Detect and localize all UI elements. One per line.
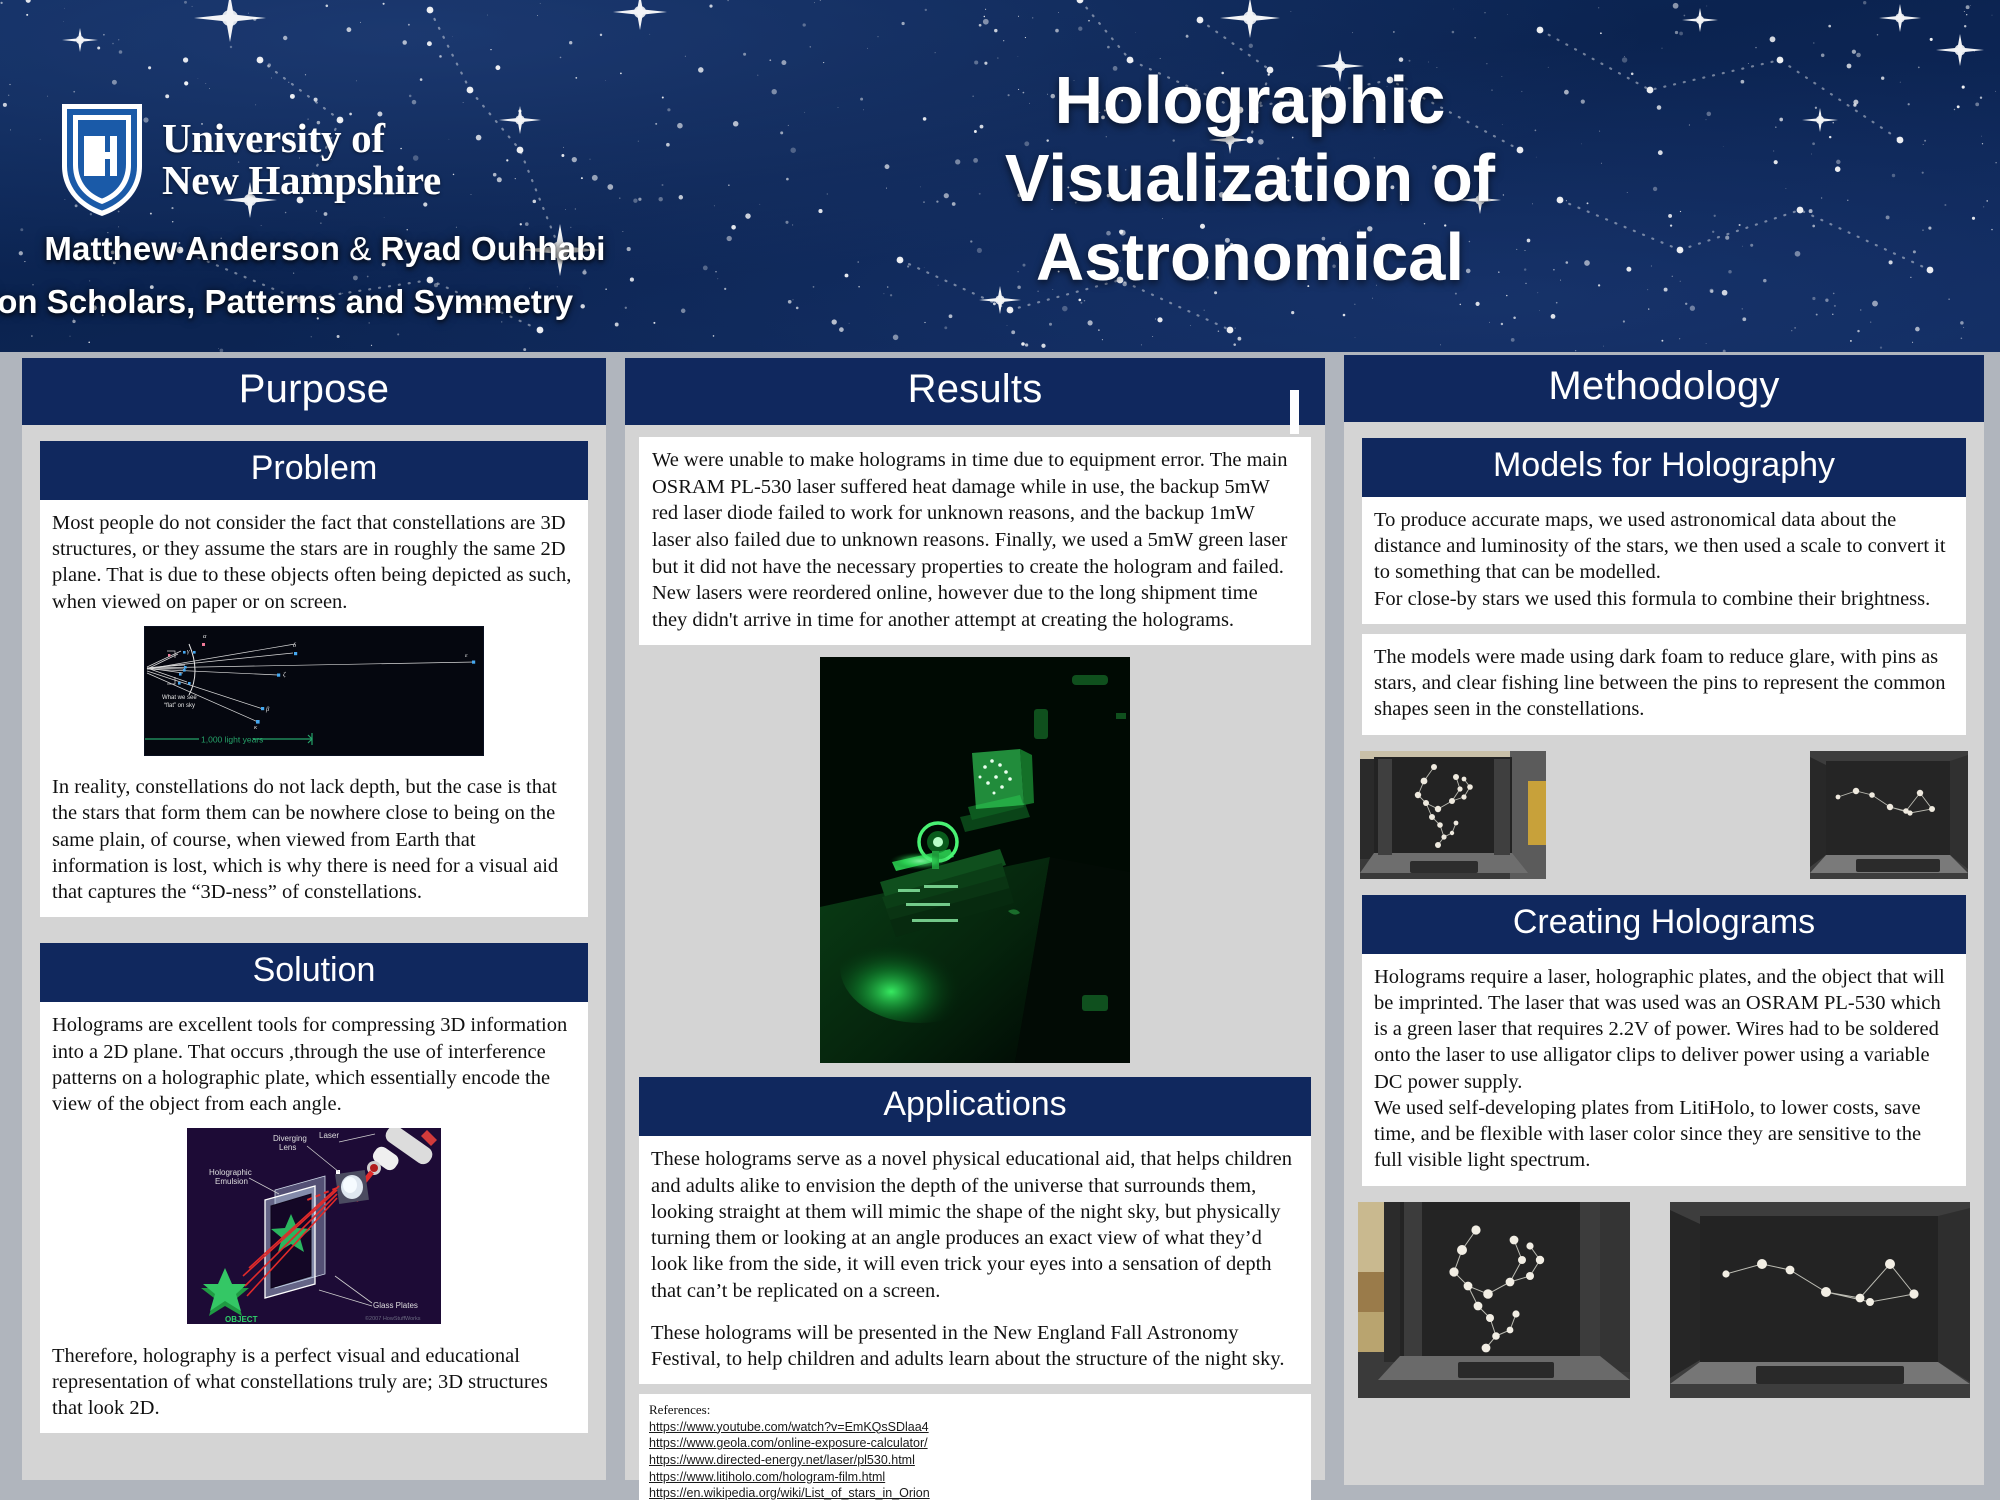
poster-title: Holographic Visualization of Astronomica… [880,62,1620,297]
svg-text:What we see: What we see [162,695,197,701]
results-text: We were unable to make holograms in time… [639,437,1311,645]
author-names: Matthew Anderson & Ryad Ouhhabi [0,230,720,268]
unh-shield-icon [58,100,146,220]
panel-heading-applications: Applications [639,1077,1311,1136]
problem-paragraph-2: In reality, constellations do not lack d… [52,774,576,905]
solution-paragraph-2: Therefore, holography is a perfect visua… [52,1343,576,1422]
svg-text:β: β [265,706,270,713]
panel-heading-models: Models for Holography [1362,438,1966,497]
svg-text:ζ: ζ [283,671,286,678]
figure-holography-wrapper: Laser Diverging Lens Holographic Emulsio… [52,1128,576,1331]
reference-link[interactable]: https://www.geola.com/online-exposure-ca… [649,1435,1301,1452]
svg-text:α: α [203,633,207,640]
svg-text:γ: γ [187,648,190,655]
applications-paragraph-2: These holograms will be presented in the… [651,1320,1299,1372]
panel-body-models-2: The models were made using dark foam to … [1362,634,1966,735]
column-heading-results: Results [625,358,1325,425]
panel-solution: Solution Holograms are excellent tools f… [40,943,588,1433]
panel-body-solution: Holograms are excellent tools for compre… [40,1002,588,1433]
decorative-tick [1290,390,1299,434]
reference-link[interactable]: https://www.litiholo.com/hologram-film.h… [649,1469,1301,1486]
svg-text:Holographic: Holographic [209,1168,252,1177]
column-heading-methodology: Methodology [1344,355,1984,422]
author-1: Matthew Anderson [44,230,340,267]
svg-text:ε: ε [465,652,468,659]
svg-text:“flat” on sky: “flat” on sky [164,703,195,709]
scalebar-label: 1,000 light years [201,734,263,744]
hologram-model-photo-orion [1358,1202,1630,1398]
svg-text:κ: κ [254,724,258,731]
column-methodology: Methodology Models for Holography To pro… [1344,355,1984,1485]
hologram-model-photo-dipper [1670,1202,1970,1398]
holography-setup-diagram: Laser Diverging Lens Holographic Emulsio… [187,1128,441,1324]
hologram-photo-row [1358,1202,1970,1398]
svg-text:OBJECT: OBJECT [225,1315,258,1324]
reference-link[interactable]: https://www.youtube.com/watch?v=EmKQsSDl… [649,1419,1301,1436]
poster-header-banner: University of New Hampshire Matthew Ande… [0,0,2000,352]
panel-heading-creating-holograms: Creating Holograms [1362,895,1966,954]
panel-models-for-holography: Models for Holography To produce accurat… [1362,438,1966,735]
column-results: Results We were unable to make holograms… [625,358,1325,1480]
unh-wordmark: University of New Hampshire [162,118,441,202]
model-photo-row [1360,751,1968,879]
unh-wordmark-line1: University of [162,118,441,160]
column-heading-purpose: Purpose [22,358,606,425]
author-separator: & [349,230,371,267]
star-depth-diagram: α γ δ ε ζ β κ What we see “ [144,626,484,756]
model-photo-ursa-major [1810,751,1968,879]
reference-link[interactable]: https://www.directed-energy.net/laser/pl… [649,1452,1301,1469]
panel-applications: Applications These holograms serve as a … [639,1077,1311,1384]
unh-wordmark-line2: New Hampshire [162,160,441,202]
problem-paragraph-1: Most people do not consider the fact tha… [52,510,576,615]
affiliation-line: ntion Scholars, Patterns and Symmetry [0,283,660,321]
svg-text:Emulsion: Emulsion [215,1177,248,1186]
reference-link[interactable]: https://en.wikipedia.org/wiki/List_of_st… [649,1485,1301,1500]
panel-body-models: To produce accurate maps, we used astron… [1362,497,1966,624]
references-block: References: https://www.youtube.com/watc… [639,1394,1311,1500]
panel-body-applications: These holograms serve as a novel physica… [639,1136,1311,1384]
svg-text:Diverging: Diverging [273,1134,307,1143]
references-list: https://www.youtube.com/watch?v=EmKQsSDl… [649,1419,1301,1500]
panel-problem: Problem Most people do not consider the … [40,441,588,917]
panel-heading-problem: Problem [40,441,588,500]
model-photo-orion [1360,751,1546,879]
author-2: Ryad Ouhhabi [381,230,606,267]
figure-star-depth-wrapper: α γ δ ε ζ β κ What we see “ [52,626,576,763]
svg-text:δ: δ [293,642,297,649]
unh-logo: University of New Hampshire [58,100,441,220]
applications-paragraph-1: These holograms serve as a novel physica… [651,1146,1299,1303]
panel-body-creating-holograms: Holograms require a laser, holographic p… [1362,954,1966,1186]
svg-text:Laser: Laser [319,1131,339,1140]
svg-text:Lens: Lens [279,1143,296,1152]
panel-heading-solution: Solution [40,943,588,1002]
solution-paragraph-1: Holograms are excellent tools for compre… [52,1012,576,1117]
poster-canvas: University of New Hampshire Matthew Ande… [0,0,2000,1500]
panel-creating-holograms: Creating Holograms Holograms require a l… [1362,895,1966,1186]
references-label: References: [649,1401,1301,1418]
panel-body-problem: Most people do not consider the fact tha… [40,500,588,917]
green-laser-setup-photo [820,657,1130,1063]
svg-text:Glass Plates: Glass Plates [373,1301,418,1310]
svg-text:©2007 HowStuffWorks: ©2007 HowStuffWorks [365,1315,421,1322]
column-purpose: Purpose Problem Most people do not consi… [22,358,606,1480]
